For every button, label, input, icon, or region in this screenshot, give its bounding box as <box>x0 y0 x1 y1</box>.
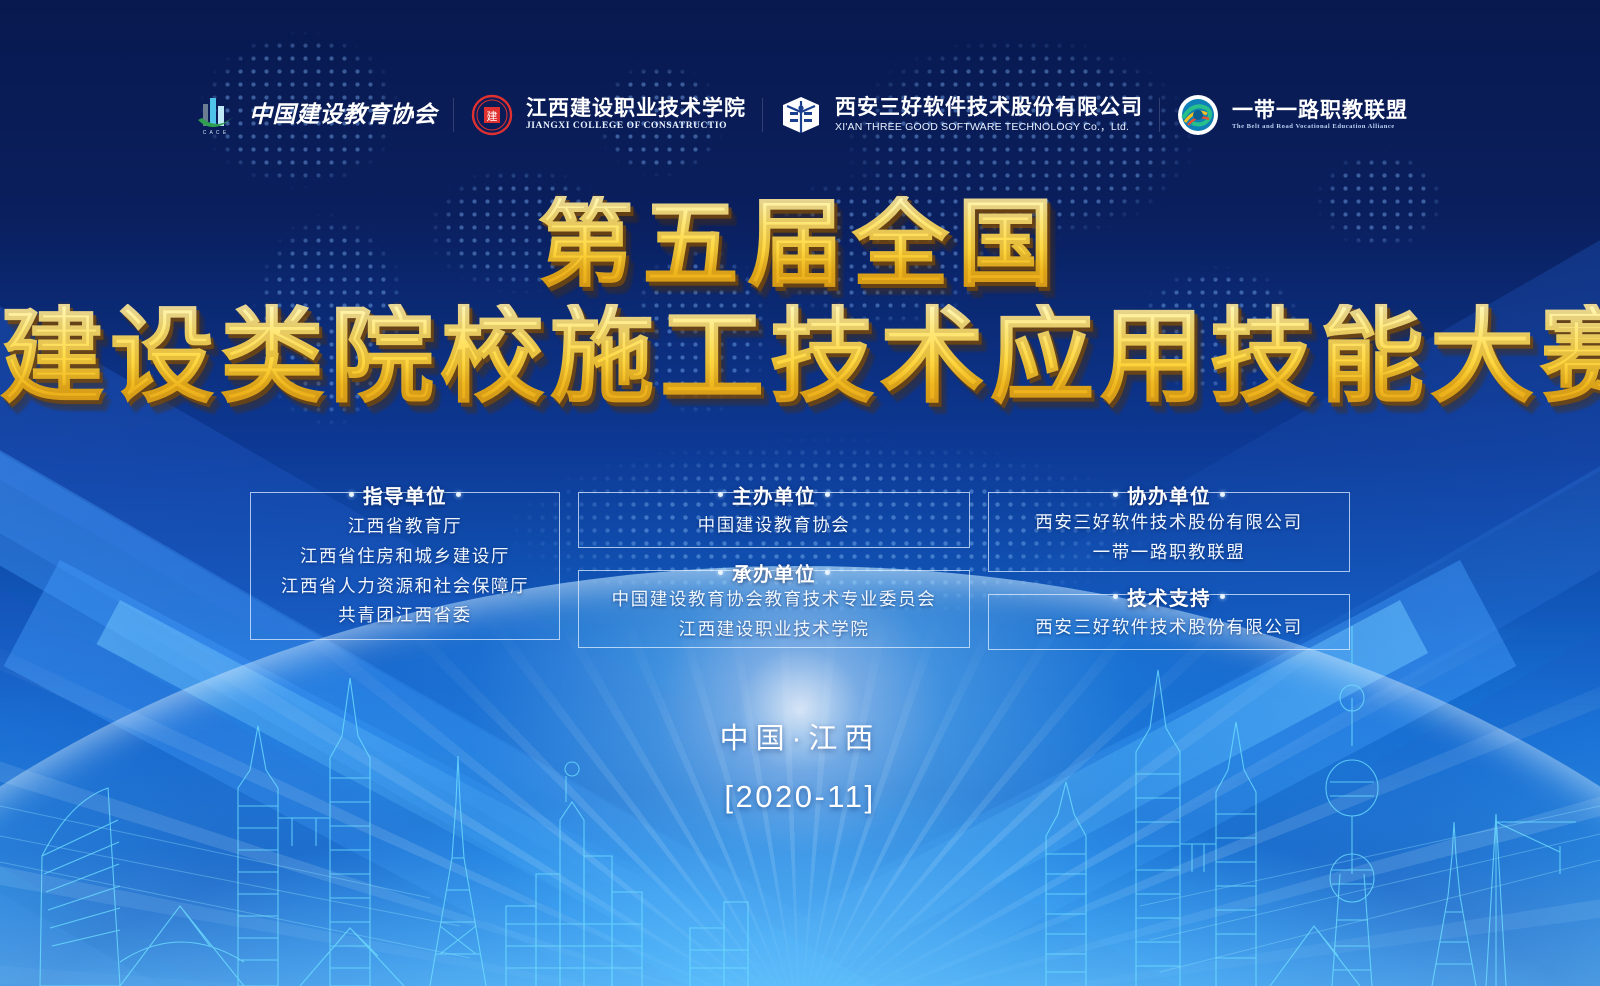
logo-three-good-software: 西安三好软件技术股份有限公司 XI'AN THREE GOOD SOFTWARE… <box>762 92 1159 138</box>
credit-box-organizer: 承办单位 中国建设教育协会教育技术专业委员会 江西建设职业技术学院 <box>578 570 970 648</box>
credit-item: 一带一路职教联盟 <box>1093 540 1246 565</box>
label-dot-left-icon <box>1113 492 1118 497</box>
poster-footer: 中国·江西 [2020-11] <box>0 715 1600 815</box>
event-location: 中国·江西 <box>0 715 1600 757</box>
credit-box-coorganizer-items: 西安三好软件技术股份有限公司 一带一路职教联盟 <box>1035 510 1302 565</box>
label-dot-left-icon <box>718 492 723 497</box>
credit-box-tech-support-label: 技术支持 <box>1109 582 1229 611</box>
credit-item: 中国建设教育协会 <box>698 513 851 538</box>
cace-bar-chart-logo: C A C E <box>192 92 238 138</box>
credit-box-guidance: 指导单位 江西省教育厅 江西省住房和城乡建设厅 江西省人力资源和社会保障厅 共青… <box>250 492 560 640</box>
logo-cace-name-cn: 中国建设教育协会 <box>249 102 437 128</box>
belt-and-road-alliance-logo <box>1175 92 1221 138</box>
label-dot-right-icon <box>825 570 830 575</box>
credit-box-coorganizer: 协办单位 西安三好软件技术股份有限公司 一带一路职教联盟 <box>988 492 1350 572</box>
jiangxi-college-seal-logo: 建 <box>469 92 515 138</box>
svg-text:建: 建 <box>487 109 498 123</box>
credits-column-left: 指导单位 江西省教育厅 江西省住房和城乡建设厅 江西省人力资源和社会保障厅 共青… <box>250 492 560 640</box>
organizer-credit-boxes: 指导单位 江西省教育厅 江西省住房和城乡建设厅 江西省人力资源和社会保障厅 共青… <box>0 492 1600 650</box>
credit-item: 中国建设教育协会教育技术专业委员会 <box>612 587 937 612</box>
credit-box-host-items: 中国建设教育协会 <box>698 513 851 538</box>
logo-jiangxi-college: 建 江西建设职业技术学院 JIANGXI COLLEGE OF CONSATRU… <box>453 92 762 138</box>
logo-jiangxi-college-name-en: JIANGXI COLLEGE OF CONSATRUCTIO <box>526 121 746 133</box>
svg-text:C A C E: C A C E <box>203 130 228 136</box>
title-line-2: 建设类院校施工技术应用技能大赛 <box>0 304 1600 408</box>
event-poster: C A C E 中国建设教育协会 建 江西建设职业技术学院 JIANGXI CO… <box>0 0 1600 986</box>
title-line-1: 第五届全国 <box>0 196 1600 292</box>
credit-box-guidance-items: 江西省教育厅 江西省住房和城乡建设厅 江西省人力资源和社会保障厅 共青团江西省委 <box>281 514 529 628</box>
credit-box-organizer-label: 承办单位 <box>714 558 834 587</box>
logo-belt-and-road-name-cn: 一带一路职教联盟 <box>1232 99 1408 123</box>
credit-box-host: 主办单位 中国建设教育协会 <box>578 492 970 548</box>
credit-box-coorganizer-label: 协办单位 <box>1109 480 1229 509</box>
three-good-software-logo <box>778 92 824 138</box>
label-dot-right-icon <box>456 492 461 497</box>
credit-item: 江西省教育厅 <box>348 514 463 539</box>
credit-item: 西安三好软件技术股份有限公司 <box>1035 615 1302 640</box>
credit-item: 江西省人力资源和社会保障厅 <box>281 574 529 599</box>
label-dot-left-icon <box>349 492 354 497</box>
event-date: [2020-11] <box>0 779 1600 815</box>
sponsor-logo-bar: C A C E 中国建设教育协会 建 江西建设职业技术学院 JIANGXI CO… <box>0 84 1600 146</box>
credit-item: 江西建设职业技术学院 <box>678 617 869 642</box>
logo-three-good-name-cn: 西安三好软件技术股份有限公司 <box>835 96 1143 120</box>
credit-box-host-label: 主办单位 <box>714 480 834 509</box>
logo-cace: C A C E 中国建设教育协会 <box>176 92 453 138</box>
label-dot-right-icon <box>825 492 830 497</box>
logo-belt-and-road-name-en: The Belt and Road Vocational Education A… <box>1232 123 1408 131</box>
credit-box-tech-support-items: 西安三好软件技术股份有限公司 <box>1035 615 1302 640</box>
label-dot-right-icon <box>1220 594 1225 599</box>
label-dot-left-icon <box>1113 594 1118 599</box>
credit-item: 江西省住房和城乡建设厅 <box>300 544 510 569</box>
credit-box-tech-support: 技术支持 西安三好软件技术股份有限公司 <box>988 594 1350 650</box>
poster-title: 第五届全国 建设类院校施工技术应用技能大赛 <box>0 196 1600 408</box>
credit-item: 共青团江西省委 <box>338 603 472 628</box>
credit-item: 西安三好软件技术股份有限公司 <box>1035 510 1302 535</box>
credit-box-organizer-items: 中国建设教育协会教育技术专业委员会 江西建设职业技术学院 <box>612 587 937 642</box>
credit-box-guidance-label: 指导单位 <box>345 480 465 509</box>
credits-column-right: 协办单位 西安三好软件技术股份有限公司 一带一路职教联盟 技术支持 西安三好软件… <box>988 492 1350 650</box>
logo-three-good-name-en: XI'AN THREE GOOD SOFTWARE TECHNOLOGY Co.… <box>835 121 1143 134</box>
logo-belt-and-road: 一带一路职教联盟 The Belt and Road Vocational Ed… <box>1159 92 1424 138</box>
logo-jiangxi-college-name-cn: 江西建设职业技术学院 <box>526 97 746 121</box>
label-dot-left-icon <box>718 570 723 575</box>
credits-column-center: 主办单位 中国建设教育协会 承办单位 中国建设教育协会教育技术专业委员会 江西建… <box>578 492 970 648</box>
label-dot-right-icon <box>1220 492 1225 497</box>
